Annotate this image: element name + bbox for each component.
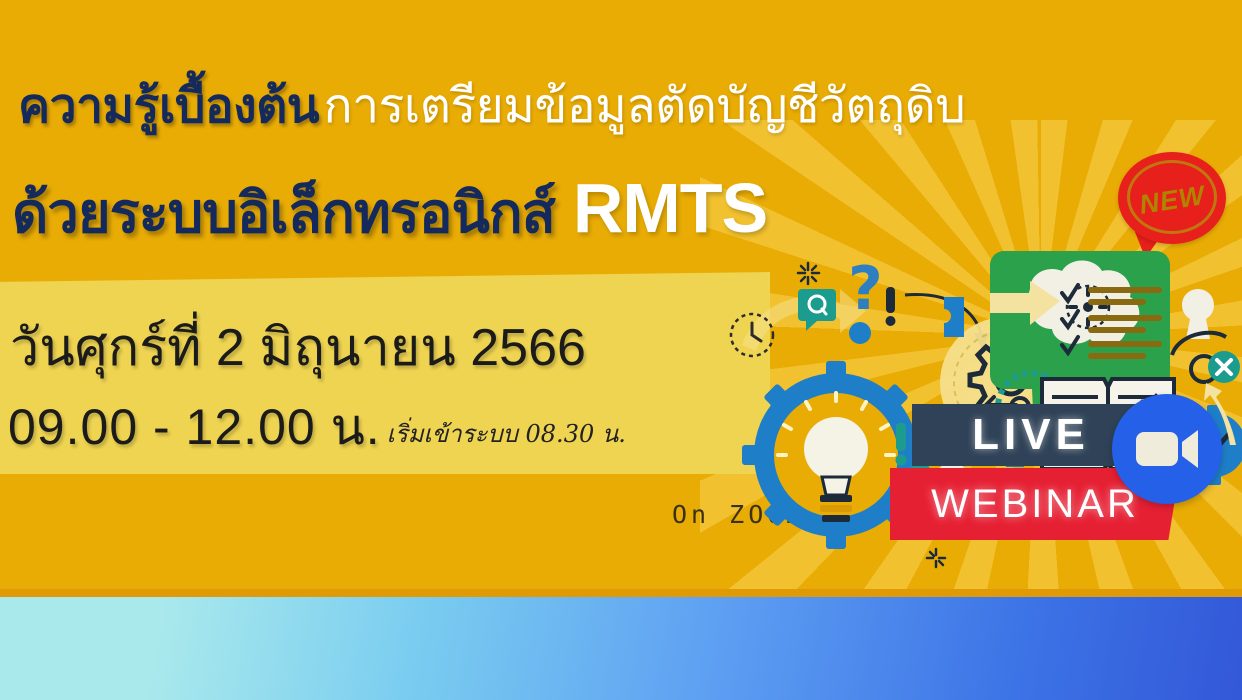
close-circle-icon [1208, 351, 1240, 383]
svg-text:?: ? [848, 254, 883, 324]
footer-divider [0, 589, 1242, 597]
headline-topic-prefix: ความรู้เบื้องต้น [18, 80, 319, 133]
new-badge-label: NEW [1112, 146, 1233, 254]
exclamation-mark-icon [886, 287, 896, 326]
new-badge: NEW [1118, 152, 1226, 244]
headline-line-1: ความรู้เบื้องต้น การเตรียมข้อมูลตัดบัญชี… [18, 68, 1228, 144]
headline-acronym-rmts: RMTS [573, 168, 767, 248]
event-time-row: 09.00 - 12.00 น. เริ่มเข้าระบบ 08.30 น. [8, 388, 626, 467]
event-time: 09.00 - 12.00 น. [8, 388, 381, 467]
webinar-badge-label: WEBINAR [931, 482, 1139, 527]
headline-topic-main: การเตรียมข้อมูลตัดบัญชีวัตถุดิบ [324, 80, 966, 133]
event-date: วันศุกร์ที่ 2 มิถุนายน 2566 [10, 305, 586, 388]
live-badge-label: LIVE [972, 410, 1090, 460]
question-mark-icon: ? [848, 254, 883, 324]
puzzle-piece-icon-2 [944, 297, 964, 337]
clock-icon [731, 314, 773, 356]
chat-bubble-icon [798, 289, 836, 331]
dot-decoration [849, 322, 871, 344]
footer-bar: EP.1 f #InvestorClubAssociation IC KM [0, 597, 1242, 700]
headline-line-2: ด้วยระบบอิเล็กทรอนิกส์ RMTS [12, 168, 767, 257]
video-camera-icon [1136, 428, 1198, 470]
event-entry-note: เริ่มเข้าระบบ 08.30 น. [387, 414, 626, 453]
webinar-promo-poster: ความรู้เบื้องต้น การเตรียมข้อมูลตัดบัญชี… [0, 0, 1242, 700]
sparkle-icon-2 [927, 549, 945, 567]
headline-system-text: ด้วยระบบอิเล็กทรอนิกส์ [12, 168, 555, 257]
zoom-video-badge [1112, 394, 1222, 504]
sparkle-icon [798, 263, 819, 284]
